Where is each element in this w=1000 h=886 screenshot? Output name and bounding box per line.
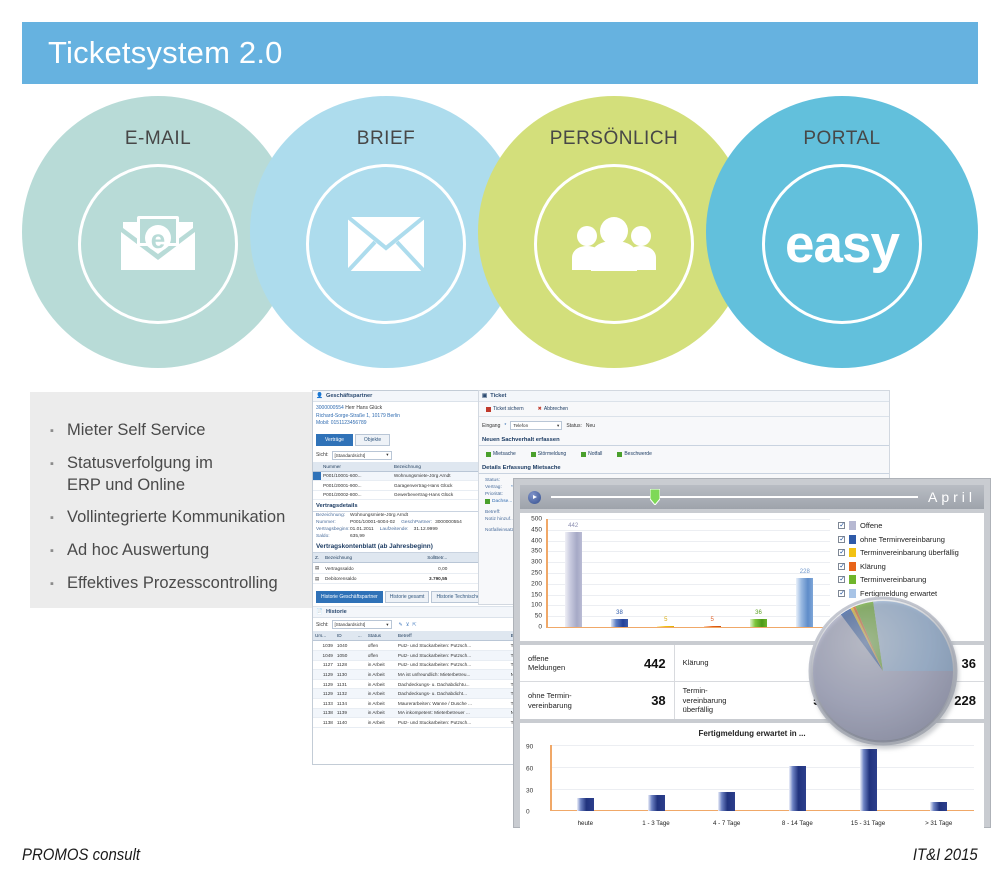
kpi-value: 38 (647, 693, 665, 708)
page-title: Ticketsystem 2.0 (22, 35, 283, 71)
x-tick-label: > 31 Tage (903, 820, 974, 827)
tab-historie-gesamt[interactable]: Historie gesamt (385, 591, 430, 603)
cell-betreff: Putz- und Stuckarbeiten: Putzsch... (396, 718, 509, 728)
kpi-label: ohne Termin- vereinbarung (528, 691, 572, 710)
bar-value: 5 (710, 617, 713, 623)
letter-envelope-icon (347, 216, 425, 272)
table-row[interactable]: 11291131in ArbeitDachdeckungs- u. Dachab… (313, 679, 516, 689)
bar-item[interactable] (833, 745, 904, 811)
bottom-plot-area (550, 745, 974, 811)
status-value: Neu (586, 423, 595, 429)
column-header: Status (366, 631, 396, 641)
list-item: ▪ Effektives Prozesscontrolling (50, 573, 320, 595)
cell-betreff: Putz- und Stuckarbeiten: Putzsch... (396, 660, 509, 670)
x-tick-label: heute (550, 820, 621, 827)
kpi-label: Klärung (683, 658, 709, 667)
legend-checkbox[interactable] (838, 522, 845, 529)
pane-title: Ticket (490, 393, 506, 399)
field-label: Saldo: (316, 534, 350, 539)
legend-color-swatch (849, 548, 856, 557)
cancel-label: Abbrechen (544, 406, 568, 412)
quick-action-notfall[interactable]: Notfall (577, 450, 606, 458)
legend-color-swatch (849, 521, 856, 530)
quick-action-stoermeldung[interactable]: Störmeldung (527, 450, 570, 458)
cell-id: 1040 (335, 641, 356, 651)
row-type-icon (356, 670, 366, 680)
y-tick: 0 (526, 809, 530, 816)
bar-value: 442 (568, 523, 578, 529)
bar-item[interactable] (762, 745, 833, 811)
field-label: Vertrag: (485, 485, 511, 490)
chevron-down-icon: ▾ (386, 452, 388, 458)
partner-name: Herr Hans Glück (345, 405, 382, 411)
legend-label: Terminvereinbarung überfällig (860, 548, 959, 557)
cell-betreff: Putz- und Stuckarbeiten: Putzsch... (396, 651, 509, 661)
save-ticket-button[interactable]: Ticket sichern (482, 405, 528, 413)
cell-betreff: MA inkompetent: Mieterbetreuer ... (396, 708, 509, 718)
bar-series: 442 38 5 5 (550, 519, 828, 627)
sicht-select[interactable]: [Standardsicht] ▾ (332, 620, 392, 629)
kpi-cell[interactable]: offene Meldungen 442 (520, 645, 675, 682)
legend-item[interactable]: ohne Terminvereinbarung (838, 535, 980, 544)
leaf-icon (531, 452, 536, 457)
cell-bezeichnung: Debitorensaldo (323, 573, 398, 584)
eingang-select-value: Telefon (513, 423, 528, 428)
feature-bullets-list: ▪ Mieter Self Service ▪ Statusverfolgung… (30, 392, 320, 595)
chevron-down-icon: ▾ (386, 622, 388, 628)
list-item: ▪ Statusverfolgung im ERP und Online (50, 453, 320, 497)
kpi-label: Termin- vereinbarung überfällig (683, 686, 727, 714)
list-item: ▪ Mieter Self Service (50, 420, 320, 442)
list-item: ▪ Vollintegrierte Kommunikation (50, 507, 320, 529)
cell-status: in Arbeit (366, 689, 396, 699)
partner-number: 3000000554 (316, 405, 344, 411)
x-tick-label: 8 - 14 Tage (762, 820, 833, 827)
export-icon[interactable]: ⇱ (412, 622, 416, 628)
field-value: 3000000554 (435, 520, 462, 525)
cancel-button[interactable]: ✖ Abbrechen (534, 405, 572, 413)
quick-action-label: Störmeldung (538, 451, 566, 457)
close-icon: ✖ (538, 406, 542, 412)
field-label: Priorität: (485, 492, 511, 497)
cell-betreff: Dachdeckungs- u. Dachabdicht... (396, 689, 509, 699)
sicht-select-value: [Standardsicht] (335, 453, 366, 458)
x-tick-label: 15 - 31 Tage (833, 820, 904, 827)
row-type-icon (356, 708, 366, 718)
legend-checkbox[interactable] (838, 576, 845, 583)
table-row[interactable]: 11381139in ArbeitMA inkompetent: Mieterb… (313, 708, 516, 718)
tab-vertraege[interactable]: Verträge (316, 434, 353, 446)
sicht-label: Sicht: (316, 452, 329, 458)
section-details-erfassung: Details Erfassung Mietsache (479, 462, 889, 474)
field-value: 635,99 (350, 534, 365, 539)
sicht-select[interactable]: [Standardsicht] ▾ (332, 451, 392, 460)
cell-ursprung: 1138 (313, 708, 335, 718)
document-icon: 📄 (316, 609, 323, 615)
sicht-label: Sicht: (316, 622, 329, 628)
cell-soll: 0,00 (398, 563, 449, 574)
channel-circles-row: E-MAIL e e BRIEF (22, 96, 978, 368)
column-header: ... (356, 631, 366, 641)
field-value: 31.12.9999 (414, 527, 438, 532)
table-row[interactable]: 11291132in ArbeitDachdeckungs- u. Dachab… (313, 689, 516, 699)
pane-title: Geschäftspartner (326, 393, 372, 399)
pane-title: Historie (326, 609, 347, 615)
quick-action-beschwerde[interactable]: Beschwerde (613, 450, 656, 458)
cell-betreff: Dachdeckungs- u. Dachabdichtu... (396, 679, 509, 689)
cell-ursprung: 1039 (313, 641, 335, 651)
quick-action-label: Notfall (588, 451, 602, 457)
cell-ursprung: 1129 (313, 679, 335, 689)
cell-status: in Arbeit (366, 679, 396, 689)
cell-betreff: Maurerarbeiten: Wanne / Dusche ... (396, 699, 509, 709)
field-label: Betreff: (485, 510, 511, 515)
bar-item[interactable] (903, 745, 974, 811)
edit-pencil-icon[interactable]: ✎ (399, 622, 403, 628)
legend-label: Offene (860, 521, 882, 530)
bullet-square-icon: ▪ (50, 540, 67, 562)
bar-chart-plot: 500 450 400 350 300 250 200 150 100 50 0 (520, 513, 834, 641)
column-header: Urs... (313, 631, 335, 641)
leaf-icon (617, 452, 622, 457)
kpi-value: 442 (640, 656, 666, 671)
email-envelope-icon: e e (119, 214, 197, 274)
detail-link[interactable]: Dachse... (492, 499, 512, 504)
cell-betreff: MA ist unfreundlich: Mieterbetreu... (396, 670, 509, 680)
legend-item[interactable]: Terminvereinbarung (838, 575, 980, 584)
x-tick-label: 1 - 3 Tage (621, 820, 692, 827)
cell-ursprung: 1129 (313, 670, 335, 680)
field-label: Status: (485, 478, 511, 483)
field-label: Bezeichnung: (316, 513, 350, 518)
column-header: SollBetr... (398, 553, 449, 563)
column-header: Z. (313, 553, 323, 563)
save-ticket-label: Ticket sichern (493, 406, 524, 412)
legend-item[interactable]: Offene (838, 521, 980, 530)
eingang-select[interactable]: Telefon ▾ (510, 421, 562, 430)
people-group-icon (571, 216, 657, 272)
easy-wordmark: easy (785, 218, 899, 271)
cell-id: 1128 (335, 660, 356, 670)
legend-color-swatch (849, 535, 856, 544)
column-header: Nummer (321, 462, 392, 472)
y-tick: 60 (526, 766, 533, 773)
channel-portal[interactable]: PORTAL easy (706, 96, 978, 368)
bar-item[interactable]: 5 (689, 519, 735, 627)
leaf-icon (485, 499, 490, 504)
cell-id: 1131 (335, 679, 356, 689)
row-type-icon (356, 699, 366, 709)
quick-action-mietsache[interactable]: Mietsache (482, 450, 520, 458)
table-row[interactable]: 10391040offenPutz- und Stuckarbeiten: Pu… (313, 641, 516, 651)
column-header: Bezeichnung (323, 553, 398, 563)
status-label: Status: (566, 423, 582, 429)
field-value: P001/10001-6004-02 (350, 520, 395, 525)
table-row[interactable]: 10491050offenPutz- und Stuckarbeiten: Pu… (313, 651, 516, 661)
cell-status: in Arbeit (366, 699, 396, 709)
bar-item[interactable] (621, 745, 692, 811)
field-label: Laufzeitende: (380, 527, 414, 532)
column-header: Betreff (396, 631, 509, 641)
header-bar: Ticketsystem 2.0 (22, 22, 978, 84)
y-axis: 500 450 400 350 300 250 200 150 100 50 0 (520, 519, 544, 627)
table-row[interactable]: 11271128in ArbeitPutz- und Stuckarbeiten… (313, 660, 516, 670)
table-row[interactable]: 11381140in ArbeitPutz- und Stuckarbeiten… (313, 718, 516, 728)
kpi-value: 36 (958, 656, 976, 671)
y-tick: 90 (526, 744, 533, 751)
field-value: 01.01.2011 (350, 527, 374, 532)
quick-action-label: Mietsache (493, 451, 516, 457)
bar-item[interactable] (550, 745, 621, 811)
row-icon: ▤ (313, 573, 323, 584)
channel-icon-ring (306, 164, 466, 324)
quick-action-label: Beschwerde (624, 451, 652, 457)
field-label: GeschPartner: (401, 520, 435, 525)
save-icon (486, 407, 491, 412)
bottom-bar-series (550, 745, 974, 811)
list-item: ▪ Ad hoc Auswertung (50, 540, 320, 562)
cell-soll: 3.790,55 (398, 573, 449, 584)
cell-id: 1130 (335, 670, 356, 680)
play-icon[interactable] (528, 491, 541, 504)
tab-historie-geschaeftspartner[interactable]: Historie Geschäftspartner (316, 591, 383, 603)
footer-right-text: IT&I 2015 (913, 845, 978, 865)
cell-status: in Arbeit (366, 708, 396, 718)
bar-value: 228 (800, 569, 810, 575)
bar-item[interactable]: 5 (643, 519, 689, 627)
cell-ursprung: 1133 (313, 699, 335, 709)
bullet-square-icon: ▪ (50, 573, 67, 595)
x-tick-label: 4 - 7 Tage (691, 820, 762, 827)
bullet-square-icon: ▪ (50, 420, 67, 442)
row-type-icon (356, 651, 366, 661)
dashboard-toolbar: April (520, 485, 984, 509)
slider-thumb[interactable] (650, 489, 660, 505)
cell-id: 1050 (335, 651, 356, 661)
cell-ursprung: 1129 (313, 689, 335, 699)
cell-ursprung: 1127 (313, 660, 335, 670)
cell-status: in Arbeit (366, 670, 396, 680)
cell-nummer: P001/10001-600... (321, 471, 392, 481)
kpi-cell[interactable]: ohne Termin- vereinbarung 38 (520, 682, 675, 719)
channel-icon-ring: e e (78, 164, 238, 324)
cell-betreff: Putz- und Stuckarbeiten: Putzsch... (396, 641, 509, 651)
bar-value: 38 (616, 610, 623, 616)
ticket-icon: ▣ (482, 393, 487, 399)
row-type-icon (356, 689, 366, 699)
legend-label: ohne Terminvereinbarung (860, 535, 945, 544)
row-icon: ▤ (313, 563, 323, 574)
pane-header-historie: 📄 Historie (313, 606, 516, 618)
legend-label: Terminvereinbarung (860, 575, 926, 584)
person-icon: 👤 (316, 393, 323, 399)
cell-ursprung: 1138 (313, 718, 335, 728)
list-item-label: Effektives Prozesscontrolling (67, 573, 278, 595)
required-marker: * (504, 423, 506, 429)
chevron-down-icon: ▾ (557, 423, 559, 429)
cell-ursprung: 1049 (313, 651, 335, 661)
cell-id: 1134 (335, 699, 356, 709)
list-item-label: Mieter Self Service (67, 420, 205, 442)
pie-shadow (811, 601, 959, 749)
tab-objekte[interactable]: Objekte (355, 434, 390, 446)
legend-color-swatch (849, 575, 856, 584)
bar-item[interactable]: 36 (735, 519, 781, 627)
cell-id: 1132 (335, 689, 356, 699)
legend-item[interactable]: Klärung (838, 562, 980, 571)
historie-view-selector-row: Sicht: [Standardsicht] ▾ ✎ ⊻ ⇱ (313, 618, 516, 631)
footer-left-text: PROMOS consult (22, 845, 140, 865)
table-row[interactable]: 11331134in ArbeitMaurerarbeiten: Wanne /… (313, 699, 516, 709)
field-value: Wohnungsmiete-Jörg Arndt (350, 513, 408, 518)
bottom-x-axis-labels: heute 1 - 3 Tage 4 - 7 Tage 8 - 14 Tage … (550, 820, 974, 827)
list-item-label: Ad hoc Auswertung (67, 540, 209, 562)
row-type-icon (356, 641, 366, 651)
legend-item[interactable]: Terminvereinbarung überfällig (838, 548, 980, 557)
y-tick: 30 (526, 788, 533, 795)
historie-table[interactable]: Urs... ID ... Status Betreff B 10391040o… (313, 631, 516, 727)
svg-text:e: e (151, 224, 165, 254)
bullet-square-icon: ▪ (50, 507, 67, 529)
bar-item[interactable] (691, 745, 762, 811)
legend-checkbox[interactable] (838, 563, 845, 570)
cell-nummer: P001/20002-800... (321, 490, 392, 500)
sicht-select-value: [Standardsicht] (335, 622, 366, 627)
channel-icon-ring: easy (762, 164, 922, 324)
bar-value: 5 (664, 617, 667, 623)
bar-value: 36 (755, 610, 762, 616)
cell-bezeichnung: Vertragssaldo (323, 563, 398, 574)
bar-item[interactable]: 38 (596, 519, 642, 627)
leaf-icon (581, 452, 586, 457)
row-type-icon (356, 679, 366, 689)
legend-color-swatch (849, 562, 856, 571)
bullet-square-icon: ▪ (50, 453, 67, 497)
cell-status: in Arbeit (366, 660, 396, 670)
legend-checkbox[interactable] (838, 536, 845, 543)
channel-icon-ring (534, 164, 694, 324)
field-label: Vertragsbeginn: (316, 527, 350, 532)
row-type-icon (356, 718, 366, 728)
pane-header-ticket: ▣ Ticket (479, 391, 889, 402)
month-slider[interactable] (551, 496, 918, 498)
cell-id: 1140 (335, 718, 356, 728)
legend-label: Klärung (860, 562, 886, 571)
cell-id: 1139 (335, 708, 356, 718)
section-neuer-sachverhalt: Neuen Sachverhalt erfassen (479, 434, 889, 446)
kpi-label: offene Meldungen (528, 654, 565, 673)
field-label: Nummer: (316, 520, 350, 525)
status-pie-chart[interactable] (807, 595, 959, 747)
filter-icon[interactable]: ⊻ (406, 622, 410, 628)
column-header: ID (335, 631, 356, 641)
channel-label: PORTAL (706, 128, 978, 150)
leaf-icon (486, 452, 491, 457)
legend-checkbox[interactable] (838, 549, 845, 556)
cell-status: offen (366, 651, 396, 661)
feature-bullets-panel: ▪ Mieter Self Service ▪ Statusverfolgung… (30, 392, 320, 608)
list-item-label: Statusverfolgung im ERP und Online (67, 453, 213, 497)
table-row[interactable]: 11291130in ArbeitMA ist unfreundlich: Mi… (313, 670, 516, 680)
list-item-label: Vollintegrierte Kommunikation (67, 507, 285, 529)
cell-nummer: P001/20001-900... (321, 481, 392, 491)
cell-status: in Arbeit (366, 718, 396, 728)
bar-item[interactable]: 442 (550, 519, 596, 627)
month-label: April (928, 489, 976, 505)
eingang-label: Eingang (482, 423, 500, 429)
row-type-icon (356, 660, 366, 670)
cell-status: offen (366, 641, 396, 651)
